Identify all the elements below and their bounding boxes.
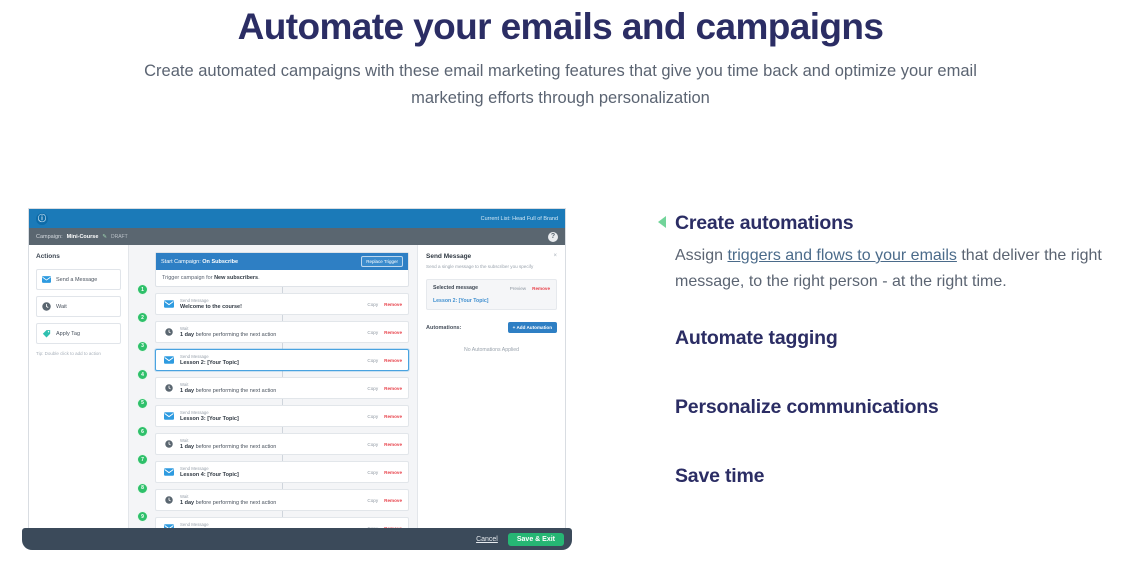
campaign-step-row[interactable]: Send MessageLesson 4: [Your Topic]CopyRe…	[155, 461, 409, 483]
step-number-badge: 2	[137, 312, 148, 323]
clock-icon	[42, 302, 51, 311]
accordion-spacer	[658, 420, 1100, 463]
step-remove-link[interactable]: Remove	[384, 442, 402, 447]
remove-link[interactable]: Remove	[532, 286, 550, 291]
step-number-badge: 9	[137, 511, 148, 522]
campaign-step-row[interactable]: Send MessageLesson 3: [Your Topic]CopyRe…	[155, 405, 409, 427]
sidebar-action-label: Apply Tag	[56, 331, 80, 337]
tag-icon	[42, 329, 51, 338]
trigger-body-bold: New subscribers	[214, 275, 258, 281]
step-title-label: Lesson 4: [Your Topic]	[180, 472, 367, 479]
campaign-step-row[interactable]: Send MessageLesson 2: [Your Topic]CopyRe…	[155, 349, 409, 371]
envelope-icon	[164, 468, 174, 476]
content-columns: ⓘ Current List: Head Full of Brand Campa…	[0, 196, 1121, 578]
sidebar-action-send-message[interactable]: Send a Message	[36, 269, 121, 290]
step-remove-link[interactable]: Remove	[384, 302, 402, 307]
page-root: Automate your emails and campaigns Creat…	[0, 0, 1121, 578]
step-title-label: 1 day before performing the next action	[180, 388, 367, 395]
body-inline-link[interactable]: triggers and flows to your emails	[727, 247, 956, 264]
campaign-name: Mini-Course	[67, 234, 99, 240]
clock-icon	[164, 496, 174, 504]
actions-heading: Actions	[36, 253, 121, 260]
step-copy-link[interactable]: Copy	[367, 414, 378, 419]
selected-message-link[interactable]: Lesson 2: [Your Topic]	[433, 298, 550, 304]
step-copy-link[interactable]: Copy	[367, 386, 378, 391]
hero-section: Automate your emails and campaigns Creat…	[0, 0, 1121, 111]
close-icon[interactable]: ×	[553, 253, 557, 259]
step-kind-label: Send Message	[180, 465, 367, 472]
sidebar-action-label: Send a Message	[56, 277, 97, 283]
sidebar-action-wait[interactable]: Wait	[36, 296, 121, 317]
trigger-card: Start Campaign: On Subscribe Replace Tri…	[155, 252, 409, 287]
send-message-panel: Send Message × Send a single message to …	[417, 245, 565, 530]
accordion-item: Create automationsAssign triggers and fl…	[658, 210, 1100, 317]
add-automation-button[interactable]: + Add Automation	[508, 322, 557, 333]
trigger-card-header: Start Campaign: On Subscribe Replace Tri…	[156, 253, 408, 270]
mockup-column: ⓘ Current List: Head Full of Brand Campa…	[0, 196, 630, 578]
step-number-badge: 1	[137, 284, 148, 295]
campaign-step-row[interactable]: Wait1 day before performing the next act…	[155, 489, 409, 511]
app-logo-icon: ⓘ	[36, 213, 48, 225]
campaign-step-row[interactable]: Wait1 day before performing the next act…	[155, 433, 409, 455]
step-kind-label: Wait	[180, 437, 367, 444]
clock-icon	[164, 440, 174, 448]
preview-link[interactable]: Preview	[510, 286, 526, 291]
trigger-body-suffix: .	[258, 275, 260, 281]
step-copy-link[interactable]: Copy	[367, 498, 378, 503]
step-kind-label: Send Message	[180, 409, 367, 416]
laptop-mockup: ⓘ Current List: Head Full of Brand Campa…	[28, 208, 566, 554]
step-copy-link[interactable]: Copy	[367, 358, 378, 363]
step-remove-link[interactable]: Remove	[384, 358, 402, 363]
clock-icon	[164, 328, 174, 336]
panel-title: Send Message	[426, 253, 471, 260]
campaign-canvas: Start Campaign: On Subscribe Replace Tri…	[129, 245, 417, 530]
features-accordion: Create automationsAssign triggers and fl…	[630, 196, 1100, 578]
campaign-label: Campaign:	[36, 234, 63, 240]
replace-trigger-button[interactable]: Replace Trigger	[361, 256, 403, 267]
step-kind-label: Send Message	[180, 353, 367, 360]
triangle-marker-icon	[658, 216, 666, 228]
laptop-base: Cancel Save & Exit	[22, 528, 572, 550]
trigger-body-prefix: Trigger campaign for	[162, 275, 214, 281]
body-text-before: Assign	[675, 247, 727, 264]
accordion-header[interactable]: Create automations	[658, 210, 1100, 236]
envelope-icon	[42, 275, 51, 284]
step-remove-link[interactable]: Remove	[384, 386, 402, 391]
cancel-button[interactable]: Cancel	[476, 536, 498, 543]
step-kind-label: Wait	[180, 493, 367, 500]
accordion-spacer	[658, 295, 1100, 317]
accordion-title: Create automations	[675, 210, 853, 236]
step-kind-label: Send Message	[180, 297, 367, 304]
envelope-icon	[164, 356, 174, 364]
step-remove-link[interactable]: Remove	[384, 498, 402, 503]
help-icon[interactable]: ?	[548, 232, 558, 242]
step-title-label: 1 day before performing the next action	[180, 500, 367, 507]
step-copy-link[interactable]: Copy	[367, 302, 378, 307]
app-topbar: ⓘ Current List: Head Full of Brand	[29, 209, 565, 228]
step-number-badge: 5	[137, 398, 148, 409]
accordion-item: Save time	[658, 463, 1100, 532]
trigger-head-name: On Subscribe	[202, 259, 238, 265]
accordion-spacer	[658, 489, 1100, 532]
step-number-badge: 8	[137, 483, 148, 494]
app-body: Actions Send a Message	[29, 245, 565, 530]
campaign-step-row[interactable]: Send MessageWelcome to the course!CopyRe…	[155, 293, 409, 315]
no-automations-text: No Automations Applied	[426, 347, 557, 353]
accordion-title: Save time	[675, 463, 764, 489]
step-copy-link[interactable]: Copy	[367, 442, 378, 447]
accordion-header[interactable]: Personalize communications	[658, 394, 1100, 420]
sidebar-action-label: Wait	[56, 304, 67, 310]
accordion-spacer	[658, 351, 1100, 394]
current-list-label: Current List: Head Full of Brand	[481, 216, 558, 222]
trigger-head-prefix: Start Campaign:	[161, 259, 201, 265]
envelope-icon	[164, 412, 174, 420]
page-subtitle: Create automated campaigns with these em…	[111, 58, 1011, 111]
step-copy-link[interactable]: Copy	[367, 330, 378, 335]
step-number-badge: 6	[137, 426, 148, 437]
step-title-label: 1 day before performing the next action	[180, 444, 367, 451]
sidebar-action-apply-tag[interactable]: Apply Tag	[36, 323, 121, 344]
step-number-badge: 3	[137, 341, 148, 352]
page-title: Automate your emails and campaigns	[0, 4, 1121, 50]
accordion-item: Automate tagging	[658, 325, 1100, 394]
step-kind-label: Wait	[180, 381, 367, 388]
accordion-title: Automate tagging	[675, 325, 838, 351]
step-copy-link[interactable]: Copy	[367, 470, 378, 475]
campaign-status-badge: DRAFT	[111, 234, 128, 240]
campaign-step-row[interactable]: Wait1 day before performing the next act…	[155, 321, 409, 343]
accordion-title: Personalize communications	[675, 394, 939, 420]
step-remove-link[interactable]: Remove	[384, 470, 402, 475]
envelope-icon	[164, 300, 174, 308]
step-title-label: Lesson 3: [Your Topic]	[180, 416, 367, 423]
step-title-label: Welcome to the course!	[180, 304, 367, 311]
campaign-step-row[interactable]: Wait1 day before performing the next act…	[155, 377, 409, 399]
selected-message-heading: Selected message	[433, 285, 478, 291]
sidebar-tip-text: Tip: Double click to add to action	[36, 350, 121, 357]
selected-message-box: Selected message Preview Remove Lesson 2…	[426, 279, 557, 310]
edit-pencil-icon[interactable]: ✎	[102, 234, 107, 240]
app-campaign-bar: Campaign: Mini-Course ✎ DRAFT ?	[29, 228, 565, 245]
step-title-label: Lesson 2: [Your Topic]	[180, 360, 367, 367]
campaign-steps-list: Send MessageWelcome to the course!CopyRe…	[155, 287, 409, 530]
save-and-exit-button[interactable]: Save & Exit	[508, 533, 564, 546]
trigger-card-body: Trigger campaign for New subscribers.	[156, 270, 408, 286]
clock-icon	[164, 384, 174, 392]
step-kind-label: Send Message	[180, 521, 367, 528]
app-screenshot: ⓘ Current List: Head Full of Brand Campa…	[28, 208, 566, 530]
step-remove-link[interactable]: Remove	[384, 414, 402, 419]
automations-label: Automations:	[426, 325, 461, 331]
accordion-header[interactable]: Automate tagging	[658, 325, 1100, 351]
step-remove-link[interactable]: Remove	[384, 330, 402, 335]
actions-sidebar: Actions Send a Message	[29, 245, 129, 530]
accordion-item: Personalize communications	[658, 394, 1100, 463]
step-number-badge: 4	[137, 369, 148, 380]
step-kind-label: Wait	[180, 325, 367, 332]
accordion-header[interactable]: Save time	[658, 463, 1100, 489]
panel-subtitle: Send a single message to the subscriber …	[426, 263, 557, 270]
accordion-body: Assign triggers and flows to your emails…	[675, 243, 1105, 295]
step-title-label: 1 day before performing the next action	[180, 332, 367, 339]
step-number-badge: 7	[137, 454, 148, 465]
